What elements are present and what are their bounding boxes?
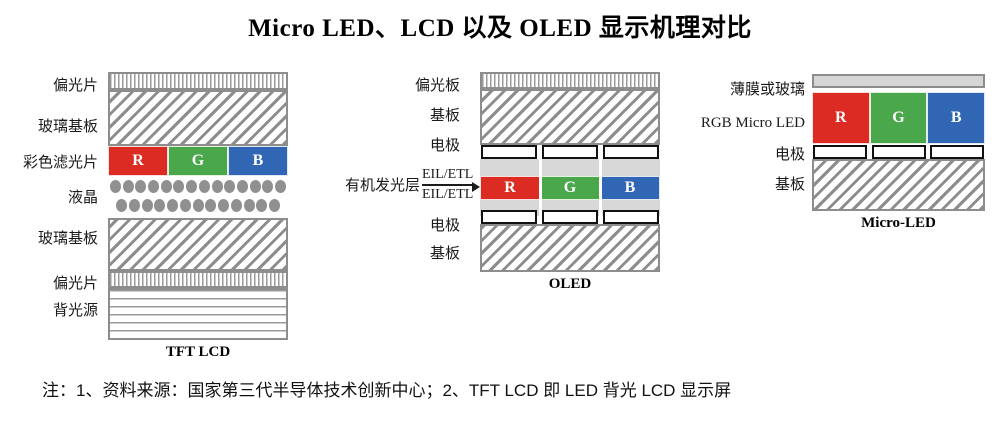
microled-electrode [813,145,867,159]
oled-electrode-row-top [481,145,659,159]
microled-electrode [872,145,926,159]
lc-dot [218,199,229,212]
eil-etl-top-label: EIL/ETL [422,167,473,183]
lc-dot [129,199,140,212]
microled-label-rgb-micro-led: RGB Micro LED [640,116,805,131]
lcd-subpixel-g: G [168,146,228,176]
lcd-layer-glass-top [108,90,288,146]
lcd-label-polarizer-bottom: 偏光片 [0,276,98,291]
footnote-text: 注：1、资料来源：国家第三代半导体技术创新中心；2、TFT LCD 即 LED … [8,378,992,404]
lcd-label-backlight: 背光源 [0,303,98,318]
lcd-label-glass-top: 玻璃基板 [0,119,98,134]
oled-electrode [603,145,659,159]
oled-eil-etl-annotation: EIL/ETL EIL/ETL [422,167,480,203]
microled-subpixel-g: G [870,92,928,144]
microled-label-substrate: 基板 [660,177,805,192]
oled-layer-substrate-bottom [480,224,660,272]
lc-dot [224,180,235,193]
lc-dot [275,180,286,193]
oled-label-electrode-bottom: 电极 [320,218,460,233]
lc-dot [135,180,146,193]
oled-electrode [603,210,659,224]
oled-caption: OLED [480,276,660,293]
lcd-label-color-filter: 彩色滤光片 [0,155,98,170]
lcd-liquid-crystal-row-1 [110,180,286,193]
microled-layer-film-or-glass [812,74,985,88]
oled-label-substrate-bottom: 基板 [320,246,460,261]
lc-dot [110,180,121,193]
oled-subpixel-r: R [480,176,540,200]
oled-subpixel-g: G [540,176,600,200]
lc-dot [231,199,242,212]
lc-dot [250,180,261,193]
microled-emitter-row: R G B [812,92,985,144]
oled-emissive-row: R G B [480,176,660,200]
microled-subpixel-r: R [812,92,870,144]
oled-electrode-row-bottom [481,210,659,224]
eil-etl-fraction: EIL/ETL EIL/ETL [422,167,473,203]
lcd-caption: TFT LCD [108,344,288,361]
lc-dot [205,199,216,212]
microled-caption: Micro-LED [812,215,985,232]
lc-dot [180,199,191,212]
lc-dot [142,199,153,212]
lcd-subpixel-b: B [228,146,288,176]
lc-dot [269,199,280,212]
oled-label-polarizer: 偏光板 [320,78,460,93]
lc-dot [212,180,223,193]
oled-layer-substrate-top [480,89,660,145]
lc-dot [262,180,273,193]
lc-dot [173,180,184,193]
oled-label-electrode-top: 电极 [320,138,460,153]
lcd-label-liquid-crystal: 液晶 [0,190,98,205]
lc-dot [193,199,204,212]
lcd-layer-polarizer-bottom [108,271,288,288]
lc-dot [167,199,178,212]
lcd-layer-glass-bottom [108,218,288,271]
lc-dot [148,180,159,193]
microled-electrode [930,145,984,159]
lcd-layer-polarizer-top [108,72,288,90]
lcd-liquid-crystal-row-2 [116,199,280,212]
microled-label-electrode: 电极 [660,147,805,162]
microled-electrode-row [813,145,984,159]
microled-subpixel-b: B [927,92,985,144]
microled-label-film-or-glass: 薄膜或玻璃 [660,82,805,97]
lc-dot [199,180,210,193]
oled-label-emissive: 有机发光层 [310,178,420,193]
lcd-label-glass-bottom: 玻璃基板 [0,231,98,246]
page-title: Micro LED、LCD 以及 OLED 显示机理对比 [0,8,1000,44]
oled-label-substrate-top: 基板 [320,108,460,123]
lcd-subpixel-r: R [108,146,168,176]
microled-layer-substrate [812,159,985,211]
eil-etl-bottom-label: EIL/ETL [422,187,473,203]
fraction-bar [422,184,473,186]
lcd-layer-backlight [108,288,288,340]
lcd-color-filter-row: R G B [108,146,288,176]
oled-pixel-divider [599,159,602,216]
oled-electrode [481,210,537,224]
lc-dot [186,180,197,193]
lc-dot [244,199,255,212]
oled-electrode [542,210,598,224]
lcd-label-polarizer-top: 偏光片 [0,78,98,93]
lc-dot [256,199,267,212]
lc-dot [116,199,127,212]
oled-electrode [481,145,537,159]
lc-dot [237,180,248,193]
oled-layer-polarizer [480,72,660,89]
oled-subpixel-b: B [600,176,660,200]
lc-dot [123,180,134,193]
lc-dot [161,180,172,193]
lc-dot [154,199,165,212]
oled-pixel-divider [539,159,542,216]
oled-electrode [542,145,598,159]
